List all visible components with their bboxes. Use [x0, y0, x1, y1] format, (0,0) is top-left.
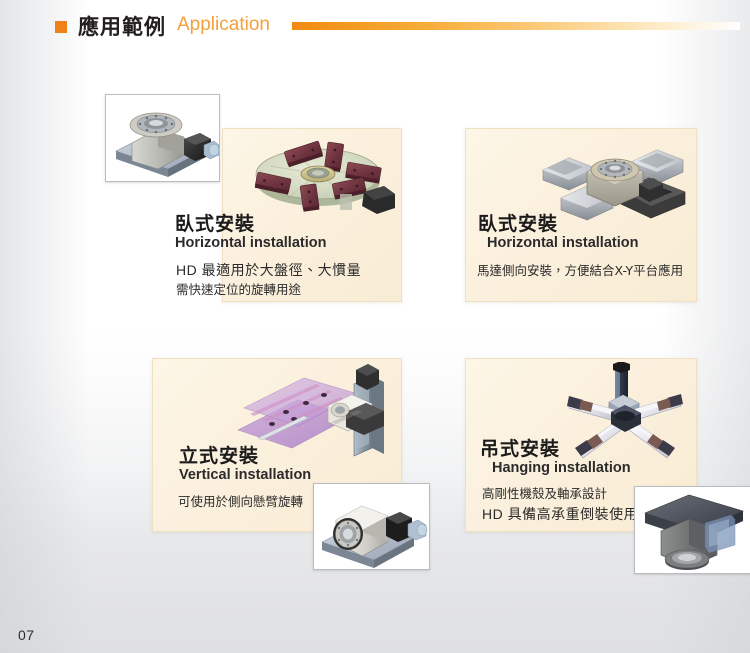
- card4-desc-line-2: HD 具備高承重倒裝使用: [482, 505, 638, 524]
- page-title-zh: 應用範例: [78, 11, 166, 41]
- card4-title-en: Hanging installation: [492, 460, 631, 476]
- card2-title-en: Horizontal installation: [487, 235, 638, 251]
- card4-desc-2-text: HD 具備高承重倒裝使用: [482, 506, 638, 522]
- page-header: 應用範例 Application: [0, 0, 750, 52]
- card1-title-zh: 臥式安裝: [175, 209, 255, 236]
- horizontal-mounted-rotary-table-photo: [105, 94, 220, 182]
- card2-desc-line-1: 馬達側向安裝，方便結合X-Y平台應用: [477, 262, 683, 280]
- page-canvas: 應用範例 Application 臥式安裝 Horizontal install…: [0, 0, 750, 653]
- card-horizontal-installation-xy-stage: 臥式安裝 Horizontal installation 馬達側向安裝，方便結合…: [465, 128, 697, 302]
- card1-title-en: Horizontal installation: [175, 235, 326, 251]
- card1-desc-1-text: HD 最適用於大盤徑、大慣量: [176, 262, 361, 278]
- vertical-mounted-rotary-table-photo: [313, 483, 430, 570]
- orange-square-icon: [55, 21, 67, 33]
- card3-title-zh: 立式安裝: [179, 441, 259, 468]
- card4-title-zh: 吊式安裝: [480, 434, 560, 461]
- page-number: 07: [18, 627, 35, 643]
- card3-title-en: Vertical installation: [179, 467, 311, 483]
- header-accent-bar: [292, 22, 740, 30]
- card4-desc-line-1: 高剛性機殼及軸承設計: [482, 485, 607, 503]
- card1-desc-line-1: HD 最適用於大盤徑、大慣量: [176, 261, 361, 280]
- card2-title-zh: 臥式安裝: [478, 209, 558, 236]
- hanging-mounted-rotary-table-photo: [634, 486, 750, 574]
- card1-desc-line-2: 需快速定位的旋轉用途: [176, 281, 301, 299]
- card-horizontal-installation-rotary-table: 臥式安裝 Horizontal installation HD 最適用於大盤徑、…: [222, 128, 402, 302]
- page-title-en: Application: [177, 14, 270, 36]
- card3-desc-line-1: 可使用於側向懸臂旋轉: [178, 493, 303, 511]
